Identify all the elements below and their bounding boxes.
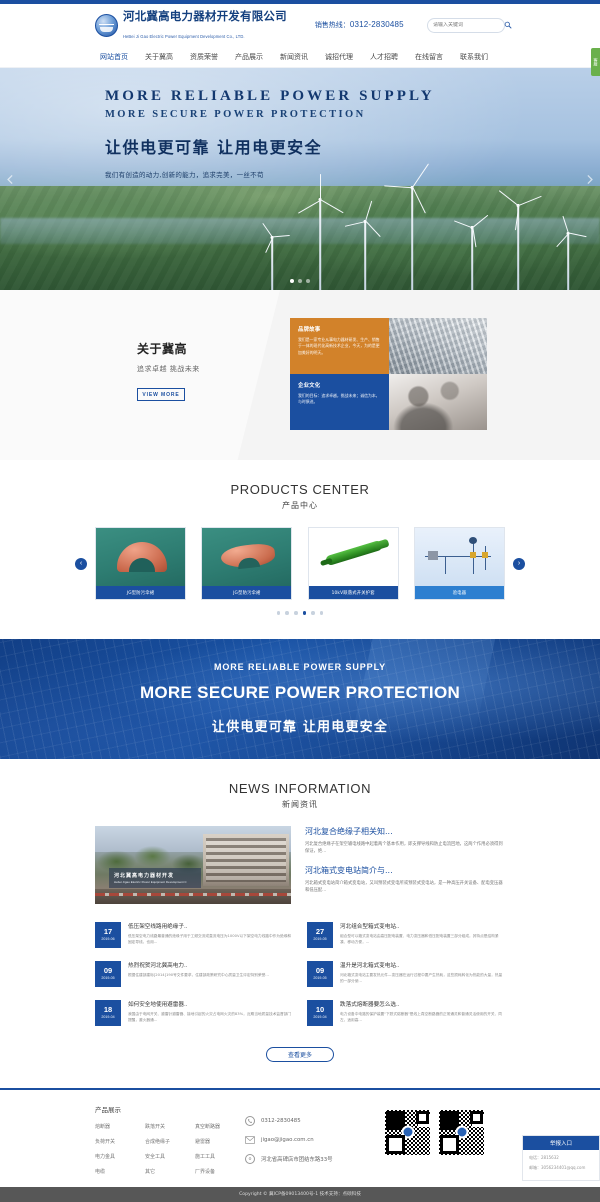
about-view-more-button[interactable]: VIEW MORE [137,388,185,401]
news-body: 河北组合型箱式变电站..组合型可以箱式变电站由高压配电装置、电力变压器和低压配电… [340,922,505,948]
product-image [96,528,185,586]
company-name-en: HeBei Ji Gao Electric Power Equipment De… [123,34,245,39]
mid-banner-cn: 让供电更可靠 让用电更安全 [140,716,460,735]
news-date: 102019-04 [307,1000,333,1026]
footer-product-link-10[interactable]: 其它 [145,1168,195,1175]
hero-headline-en2: MORE SECURE POWER PROTECTION [105,109,435,120]
report-entry-email: 邮箱：3056234401@qq.com [529,1165,593,1171]
news-featured-desc: 河北箱式变电站简介箱式变电站，又叫预装式变电所或预装式变电站，是一种高压开关设备… [305,880,505,895]
news-item[interactable]: 182019-04如何安全地使用避雷器..我国由于电网开关、避雷针避雷器、接地引… [95,1000,293,1026]
copyright-text: Copyright © 冀ICP备09013400号-1 技术支持：点硕科技 [239,1191,361,1197]
about-photo-people [389,374,488,430]
product-dot-0[interactable] [277,611,281,615]
news-day: 17 [104,928,112,936]
footer-contact: 0312-2830485 jigao@jigao.com.cn 河北省高碑店市团… [245,1104,385,1173]
company-logo-icon [95,14,118,37]
news-day: 09 [104,967,112,975]
about-card-culture-title: 企业文化 [298,381,381,389]
products-heading-en: PRODUCTS CENTER [0,482,600,497]
nav-item-4[interactable]: 新闻资讯 [280,52,308,62]
footer-phone-value: 0312-2830485 [261,1118,301,1124]
nav-item-0[interactable]: 网站首页 [100,52,128,62]
news-title[interactable]: 如何安全地使用避雷器.. [128,1000,293,1008]
side-service-tab[interactable]: 客服 [591,48,600,76]
news-month: 2019-05 [101,976,114,980]
news-title[interactable]: 低压架空线路用绝缘子.. [128,922,293,930]
news-desc: 根据住建部建标[2014]190号文件要求，住建部政策研究中心质量卫生评定特别荣… [128,972,293,978]
news-heading-en: NEWS INFORMATION [0,781,600,796]
news-body: 跌落式熔断器要怎么选..电力设备中电路的保护装置"下跌式熔断器"是线上真空断路器… [340,1000,505,1026]
site-footer: 产品展示 熔断器跌落开关真空断路器负荷开关合成绝缘子避雷器电力金具安全工具施工工… [0,1088,600,1187]
phone-icon [245,1116,255,1126]
footer-product-link-2[interactable]: 真空断路器 [195,1123,245,1130]
product-card[interactable]: 10kV跌落式开关护套 [308,527,399,600]
footer-products-heading: 产品展示 [95,1104,245,1114]
news-desc: 组合型可以箱式变电站由高压配电装置、电力变压器和低压配电装置三部分组成，其特点是… [340,933,505,946]
news-featured-item: 河北复合绝缘子相关知... 河北复合绝缘子在架空输电线路中起着两个基本作用，即支… [305,826,505,856]
news-day: 10 [316,1006,324,1014]
copyright-bar: Copyright © 冀ICP备09013400号-1 技术支持：点硕科技 [0,1187,600,1202]
news-body: 如何安全地使用避雷器..我国由于电网开关、避雷针避雷器、接地引起的火灾占电网火灾… [128,1000,293,1026]
nav-item-2[interactable]: 资质荣誉 [190,52,218,62]
product-dot-5[interactable] [320,611,324,615]
news-date: 172019-06 [95,922,121,948]
news-title[interactable]: 河北组合型箱式变电站.. [340,922,505,930]
news-column-1: 272019-05河北组合型箱式变电站..组合型可以箱式变电站由高压配电装置、电… [307,922,505,1039]
wind-turbine-icon [548,232,588,290]
news-photo-sign-cn: 河北冀高电力器材开发 [114,872,201,879]
product-caption: JG型防污伞裙 [96,586,185,599]
news-month: 2019-05 [313,976,326,980]
hero-banner: MORE RELIABLE POWER SUPPLY MORE SECURE P… [0,68,600,290]
location-icon [245,1154,255,1164]
about-title: 关于冀高 [137,340,290,357]
news-day: 27 [316,928,324,936]
news-month: 2019-04 [313,1015,326,1019]
about-card-brand[interactable]: 品牌故事 我们是一家专业从事电力器材研发、生产、销售于一体的现代化高新技术企业，… [290,318,389,374]
news-body: 低压架空线路用绝缘子..低压架空电力线路最普通的绝缘子用于工频交流或直流电压为1… [128,922,293,948]
news-date: 272019-05 [307,922,333,948]
report-entry-title: 举报入口 [523,1136,599,1150]
footer-product-links: 熔断器跌落开关真空断路器负荷开关合成绝缘子避雷器电力金具安全工具施工工具电缆其它… [95,1123,245,1175]
product-carousel: ‹ JG型防污伞裙 JG型防污伞裙 10kV跌落式开关护套 [95,527,505,600]
mail-icon [245,1135,255,1145]
news-photo-sign: 河北冀高电力器材开发 Hebei Jigao Electric Power Eq… [109,868,201,888]
footer-product-link-7[interactable]: 安全工具 [145,1153,195,1160]
wind-turbine-icon [252,236,292,290]
news-heading-cn: 新闻资讯 [0,799,600,810]
footer-qr-codes [385,1104,484,1155]
wind-turbine-icon [300,198,340,290]
footer-products: 产品展示 熔断器跌落开关真空断路器负荷开关合成绝缘子避雷器电力金具安全工具施工工… [95,1104,245,1175]
news-featured-desc: 河北复合绝缘子在架空输电线路中起着两个基本作用，即支撑导线和防止电流回地，这两个… [305,841,505,856]
news-body: 温升是河北箱式变电站..河北箱式变电站主要发热元件—变压器在运行过程中要产生热耗… [340,961,505,987]
main-navigation: 网站首页关于冀高资质荣誉产品展示新闻资讯诚招代理人才招聘在线留言联系我们 [0,46,600,68]
hero-text-block: MORE RELIABLE POWER SUPPLY MORE SECURE P… [105,88,435,179]
news-date: 092019-05 [95,961,121,987]
news-title[interactable]: 热烈祝贺河北冀高电力.. [128,961,293,969]
mid-banner-en1: MORE RELIABLE POWER SUPPLY [140,662,460,672]
hero-dot-1[interactable] [298,279,302,283]
news-featured-title[interactable]: 河北复合绝缘子相关知... [305,826,505,837]
footer-product-link-4[interactable]: 合成绝缘子 [145,1138,195,1145]
site-header: 河北冀高电力器材开发有限公司 HeBei Ji Gao Electric Pow… [0,4,600,46]
about-card-culture[interactable]: 企业文化 我们的目标：追求卓越，挑战未来；诚信为本，与时俱进。 [290,374,389,430]
nav-item-1[interactable]: 关于冀高 [145,52,173,62]
search-icon[interactable] [504,21,512,29]
news-column-0: 172019-06低压架空线路用绝缘子..低压架空电力线路最普通的绝缘子用于工频… [95,922,293,1039]
footer-email-value: jigao@jigao.com.cn [261,1137,314,1143]
mid-banner: MORE RELIABLE POWER SUPPLY MORE SECURE P… [0,639,600,759]
footer-phone: 0312-2830485 [245,1116,385,1126]
product-dot-2[interactable] [294,611,298,615]
news-body: 热烈祝贺河北冀高电力..根据住建部建标[2014]190号文件要求，住建部政策研… [128,961,293,987]
news-section: NEWS INFORMATION 新闻资讯 河北冀高电力器材开发 Hebei J… [0,759,600,1088]
news-featured-item: 河北箱式变电站简介与... 河北箱式变电站简介箱式变电站，又叫预装式变电所或预装… [305,865,505,895]
news-title[interactable]: 跌落式熔断器要怎么选.. [340,1000,505,1008]
about-subtitle: 追求卓越 挑战未来 [137,364,290,374]
wind-turbine-icon [452,226,492,290]
hero-dot-2[interactable] [306,279,310,283]
news-date: 182019-04 [95,1000,121,1026]
news-month: 2019-05 [313,937,326,941]
footer-product-link-0[interactable]: 熔断器 [95,1123,145,1130]
product-image [202,528,291,586]
footer-product-link-5[interactable]: 避雷器 [195,1138,245,1145]
company-name-cn: 河北冀高电力器材开发有限公司 [123,9,287,23]
product-dot-nav[interactable] [95,611,505,615]
footer-product-link-1[interactable]: 跌落开关 [145,1123,195,1130]
news-month: 2019-04 [101,1015,114,1019]
news-month: 2019-06 [101,937,114,941]
footer-product-link-3[interactable]: 负荷开关 [95,1138,145,1145]
hero-headline-en1: MORE RELIABLE POWER SUPPLY [105,88,435,105]
about-card-grid: 品牌故事 我们是一家专业从事电力器材研发、生产、销售于一体的现代化高新技术企业，… [290,318,487,430]
news-columns: 172019-06低压架空线路用绝缘子..低压架空电力线路最普通的绝缘子用于工频… [95,922,505,1039]
hero-next-arrow[interactable] [583,173,596,186]
news-featured-list: 河北复合绝缘子相关知... 河北复合绝缘子在架空输电线路中起着两个基本作用，即支… [305,826,505,904]
products-prev-arrow[interactable]: ‹ [75,558,87,570]
about-section: 关于冀高 追求卓越 挑战未来 VIEW MORE 品牌故事 我们是一家专业从事电… [0,290,600,460]
news-photo-sign-en: Hebei Jigao Electric Power Equipment Dev… [114,880,201,884]
hero-prev-arrow[interactable] [4,173,17,186]
site-logo[interactable]: 河北冀高电力器材开发有限公司 HeBei Ji Gao Electric Pow… [95,7,287,43]
news-item[interactable]: 092019-05热烈祝贺河北冀高电力..根据住建部建标[2014]190号文件… [95,961,293,987]
product-card[interactable]: JG型防污伞裙 [201,527,292,600]
news-desc: 低压架空电力线路最普通的绝缘子用于工频交流或直流电压为1000V以下架空电力线路… [128,933,293,946]
footer-address: 河北省高碑店市团结东路33号 [245,1154,385,1164]
news-desc: 河北箱式变电站主要发热元件—变压器在运行过程中要产生热耗，这些损耗转化为热能的大… [340,972,505,985]
nav-item-6[interactable]: 人才招聘 [370,52,398,62]
products-next-arrow[interactable]: › [513,558,525,570]
report-entry-phone: 电话：2815632 [529,1155,593,1161]
news-item[interactable]: 272019-05河北组合型箱式变电站..组合型可以箱式变电站由高压配电装置、电… [307,922,505,948]
footer-product-link-8[interactable]: 施工工具 [195,1153,245,1160]
nav-item-3[interactable]: 产品展示 [235,52,263,62]
news-day: 09 [316,967,324,975]
nav-item-8[interactable]: 联系我们 [460,52,488,62]
product-image [309,528,398,586]
product-image [415,528,504,586]
about-card-culture-text: 我们的目标：追求卓越，挑战未来；诚信为本，与时俱进。 [298,393,381,406]
product-dot-3[interactable] [303,611,307,615]
hero-dot-nav[interactable] [290,279,310,283]
about-card-brand-title: 品牌故事 [298,325,381,333]
news-title[interactable]: 温升是河北箱式变电站.. [340,961,505,969]
product-caption: 验电器 [415,586,504,599]
product-caption: 10kV跌落式开关护套 [309,586,398,599]
news-item[interactable]: 092019-05温升是河北箱式变电站..河北箱式变电站主要发热元件—变压器在运… [307,961,505,987]
products-heading: PRODUCTS CENTER 产品中心 [0,482,600,511]
footer-email: jigao@jigao.com.cn [245,1135,385,1145]
news-heading: NEWS INFORMATION 新闻资讯 [0,781,600,810]
footer-product-link-11[interactable]: 厂界设备 [195,1168,245,1175]
about-card-brand-text: 我们是一家专业从事电力器材研发、生产、销售于一体的现代化高新技术企业，今天，为的… [298,337,381,356]
wind-turbine-icon [498,204,538,290]
qr-code-wechat [385,1110,430,1155]
news-more-button[interactable]: 查看更多 [266,1047,334,1062]
hotline: 销售热线：0312-2830485 [315,20,404,30]
qr-code-mobile [439,1110,484,1155]
news-day: 18 [104,1006,112,1014]
about-text-block: 关于冀高 追求卓越 挑战未来 VIEW MORE [95,318,290,401]
search-box[interactable] [427,18,505,33]
hotline-number: 0312-2830485 [350,20,404,29]
wind-turbine-icon [345,220,385,290]
nav-item-5[interactable]: 诚招代理 [325,52,353,62]
nav-item-7[interactable]: 在线留言 [415,52,443,62]
product-card[interactable]: JG型防污伞裙 [95,527,186,600]
tool-diagram-icon [415,528,504,586]
news-item[interactable]: 102019-04跌落式熔断器要怎么选..电力设备中电路的保护装置"下跌式熔断器… [307,1000,505,1026]
product-card[interactable]: 验电器 [414,527,505,600]
hero-headline-cn: 让供电更可靠 让用电更安全 [105,134,435,158]
footer-product-link-9[interactable]: 电缆 [95,1168,145,1175]
news-item[interactable]: 172019-06低压架空线路用绝缘子..低压架空电力线路最普通的绝缘子用于工频… [95,922,293,948]
products-heading-cn: 产品中心 [0,500,600,511]
news-featured-title[interactable]: 河北箱式变电站简介与... [305,865,505,876]
products-section: PRODUCTS CENTER 产品中心 ‹ JG型防污伞裙 JG型防污伞裙 1… [0,460,600,639]
footer-product-link-6[interactable]: 电力金具 [95,1153,145,1160]
wind-turbine-icon [392,186,432,290]
product-dot-4[interactable] [311,611,315,615]
news-desc: 电力设备中电路的保护装置"下跌式熔断器"是线上真空断路器的正常通灵和普通灵活使用… [340,1011,505,1024]
about-photo-building [389,318,488,374]
news-date: 092019-05 [307,961,333,987]
footer-address-value: 河北省高碑店市团结东路33号 [261,1155,333,1163]
report-entry-widget[interactable]: 举报入口 电话：2815632 邮箱：3056234401@qq.com [522,1135,600,1181]
hero-subtext: 我们有创造的动力,创新的能力，追求完美，一丝不苟 [105,169,435,179]
product-caption: JG型防污伞裙 [202,586,291,599]
product-dot-1[interactable] [285,611,289,615]
mid-banner-en2: MORE SECURE POWER PROTECTION [140,683,460,703]
hotline-label: 销售热线： [315,22,350,29]
news-feature-photo[interactable]: 河北冀高电力器材开发 Hebei Jigao Electric Power Eq… [95,826,291,904]
news-desc: 我国由于电网开关、避雷针避雷器、接地引起的火灾占电网火灾的83%，近期当地质量技… [128,1011,293,1024]
search-input[interactable] [433,22,504,28]
hero-dot-0[interactable] [290,279,294,283]
